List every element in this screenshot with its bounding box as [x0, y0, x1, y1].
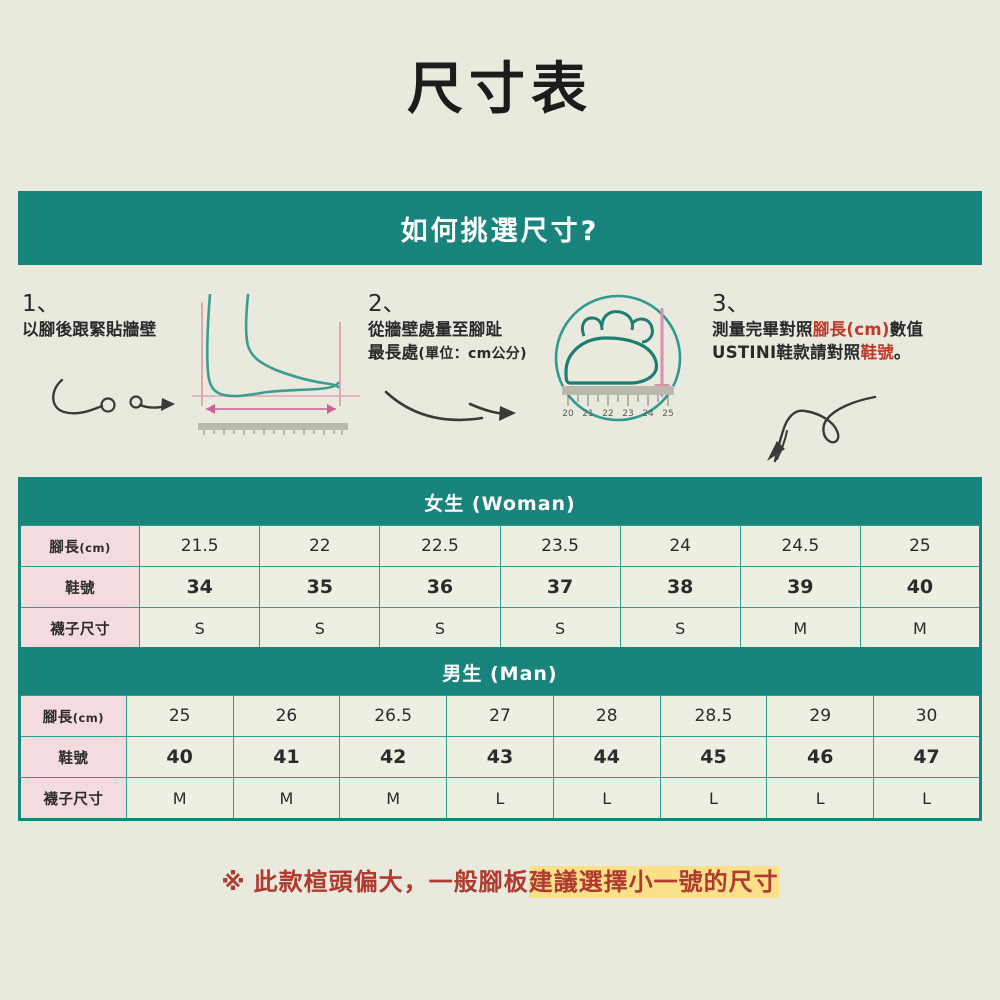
curved-arrow-down-left-icon: [757, 387, 887, 467]
step-2-number: 2、: [368, 292, 553, 317]
cell-shoe-size: 42: [340, 737, 447, 778]
cell-shoe-size: 37: [500, 567, 620, 608]
table-row: 襪子尺寸 M M M L L L L L: [20, 778, 981, 820]
curved-arrow-right-icon: [44, 372, 189, 432]
steps-section: 1、 以腳後跟緊貼牆壁: [0, 292, 1000, 470]
cell-sock-size: S: [260, 608, 380, 650]
table-row: 鞋號 40 41 42 43 44 45 46 47: [20, 737, 981, 778]
cell-shoe-size: 39: [740, 567, 860, 608]
cell-foot-length: 29: [767, 696, 874, 737]
note-plain-text: 此款楦頭偏大，一般腳板: [254, 868, 529, 896]
note-highlighted-text: 建議選擇小一號的尺寸: [529, 866, 779, 898]
table-row: 腳長(cm) 25 26 26.5 27 28 28.5 29 30: [20, 696, 981, 737]
cell-foot-length: 28: [553, 696, 660, 737]
cell-shoe-size: 43: [447, 737, 554, 778]
step-3-line1-b: 數值: [890, 320, 924, 339]
cell-foot-length: 22: [260, 526, 380, 567]
step-3-line1-highlight: 腳長(cm): [813, 320, 890, 339]
step-3-number: 3、: [712, 292, 992, 317]
cell-shoe-size: 46: [767, 737, 874, 778]
cell-sock-size: M: [740, 608, 860, 650]
foot-side-profile-diagram: [190, 294, 362, 444]
cell-foot-length: 24.5: [740, 526, 860, 567]
cell-shoe-size: 40: [860, 567, 980, 608]
cell-shoe-size: 41: [233, 737, 340, 778]
cell-sock-size: L: [767, 778, 874, 820]
cell-sock-size: M: [340, 778, 447, 820]
ruler-tick: 24: [642, 409, 654, 419]
table-woman-heading: 女生 (Woman): [20, 479, 981, 526]
ruler-tick: 23: [622, 409, 633, 419]
step-2-unit: (單位：cm公分): [418, 346, 526, 362]
cell-sock-size: L: [660, 778, 767, 820]
note-mark-icon: ※: [221, 868, 245, 896]
ruler-tick: 22: [602, 409, 613, 419]
banner-label: 如何挑選尺寸?: [401, 209, 600, 248]
step-1: 1、 以腳後跟緊貼牆壁: [22, 292, 367, 342]
cell-foot-length: 25: [860, 526, 980, 567]
cell-foot-length: 23.5: [500, 526, 620, 567]
cell-shoe-size: 34: [140, 567, 260, 608]
row-label-shoe-size: 鞋號: [20, 567, 140, 608]
row-label-sock-size: 襪子尺寸: [20, 608, 140, 650]
cell-sock-size: S: [140, 608, 260, 650]
cell-foot-length: 25: [126, 696, 233, 737]
cell-foot-length: 22.5: [380, 526, 500, 567]
curved-arrow-right-icon: [378, 374, 543, 436]
row-label-foot-length: 腳長(cm): [20, 696, 127, 737]
step-3-line2-a: USTINI鞋款請對照: [712, 343, 860, 362]
cell-shoe-size: 44: [553, 737, 660, 778]
size-table-man: 男生 (Man) 腳長(cm) 25 26 26.5 27 28 28.5 29…: [18, 647, 982, 821]
step-1-number: 1、: [22, 292, 212, 317]
cell-foot-length: 26: [233, 696, 340, 737]
cell-foot-length: 21.5: [140, 526, 260, 567]
cell-sock-size: M: [233, 778, 340, 820]
foot-top-on-ruler-circle-diagram: 20 21 22 23 24 25: [540, 290, 700, 430]
ruler-tick: 25: [662, 409, 673, 419]
table-man-heading: 男生 (Man): [20, 649, 981, 696]
row-label-foot-length: 腳長(cm): [20, 526, 140, 567]
step-2-text-line2: 最長處: [368, 343, 418, 362]
cell-shoe-size: 38: [620, 567, 740, 608]
footer-note: ※此款楦頭偏大，一般腳板建議選擇小一號的尺寸: [0, 862, 1000, 897]
how-to-choose-banner: 如何挑選尺寸?: [18, 191, 982, 265]
step-1-text: 以腳後跟緊貼牆壁: [22, 319, 212, 341]
cell-sock-size: M: [860, 608, 980, 650]
table-row: 襪子尺寸 S S S S S M M: [20, 608, 981, 650]
table-row: 鞋號 34 35 36 37 38 39 40: [20, 567, 981, 608]
step-2-text-line1: 從牆壁處量至腳趾: [368, 319, 553, 341]
table-row: 腳長(cm) 21.5 22 22.5 23.5 24 24.5 25: [20, 526, 981, 567]
ruler-tick: 21: [582, 409, 593, 419]
cell-foot-length: 24: [620, 526, 740, 567]
cell-shoe-size: 45: [660, 737, 767, 778]
page-title: 尺寸表: [0, 0, 1000, 118]
step-3-line1-a: 測量完畢對照: [712, 320, 813, 339]
cell-sock-size: L: [553, 778, 660, 820]
cell-shoe-size: 40: [126, 737, 233, 778]
cell-foot-length: 26.5: [340, 696, 447, 737]
step-3-line2-highlight: 鞋號: [860, 343, 894, 362]
cell-shoe-size: 35: [260, 567, 380, 608]
ruler-tick: 20: [562, 409, 574, 419]
cell-foot-length: 27: [447, 696, 554, 737]
cell-sock-size: L: [874, 778, 981, 820]
row-label-shoe-size: 鞋號: [20, 737, 127, 778]
step-3: 3、 測量完畢對照腳長(cm)數值 USTINI鞋款請對照鞋號。: [712, 292, 997, 364]
step-2: 2、 從牆壁處量至腳趾 最長處(單位：cm公分): [368, 292, 708, 364]
cell-sock-size: M: [126, 778, 233, 820]
cell-sock-size: S: [500, 608, 620, 650]
cell-sock-size: S: [620, 608, 740, 650]
size-table-woman: 女生 (Woman) 腳長(cm) 21.5 22 22.5 23.5 24 2…: [18, 477, 982, 651]
cell-sock-size: S: [380, 608, 500, 650]
cell-shoe-size: 47: [874, 737, 981, 778]
cell-shoe-size: 36: [380, 567, 500, 608]
cell-foot-length: 30: [874, 696, 981, 737]
cell-sock-size: L: [447, 778, 554, 820]
step-3-line2-b: 。: [894, 343, 911, 362]
cell-foot-length: 28.5: [660, 696, 767, 737]
row-label-sock-size: 襪子尺寸: [20, 778, 127, 820]
